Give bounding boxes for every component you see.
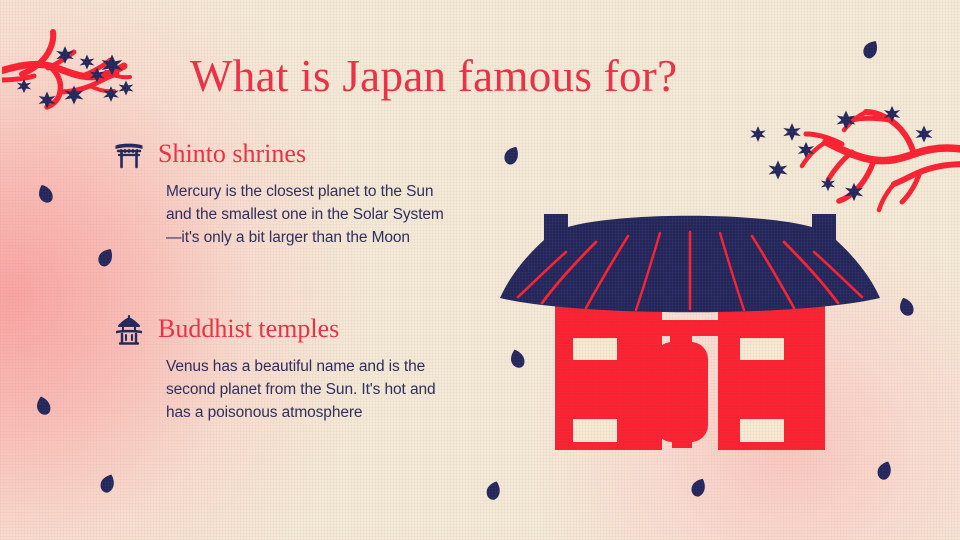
- background-pink-right-wash: [440, 150, 960, 540]
- section-header: Buddhist temples: [112, 313, 456, 347]
- section-shinto-shrines: Shinto shrines Mercury is the closest pl…: [112, 138, 456, 249]
- section-body: Venus has a beautiful name and is the se…: [166, 356, 456, 424]
- slide-canvas: What is Japan famous for? Shinto shrines: [0, 0, 960, 540]
- section-header: Shinto shrines: [112, 138, 456, 172]
- section-body: Mercury is the closest planet to the Sun…: [166, 181, 456, 249]
- torii-gate-icon: [112, 138, 146, 172]
- section-title: Buddhist temples: [158, 316, 339, 345]
- section-title: Shinto shrines: [158, 141, 306, 170]
- pagoda-icon: [112, 313, 146, 347]
- section-buddhist-temples: Buddhist temples Venus has a beautiful n…: [112, 313, 456, 424]
- slide-title: What is Japan famous for?: [190, 50, 677, 102]
